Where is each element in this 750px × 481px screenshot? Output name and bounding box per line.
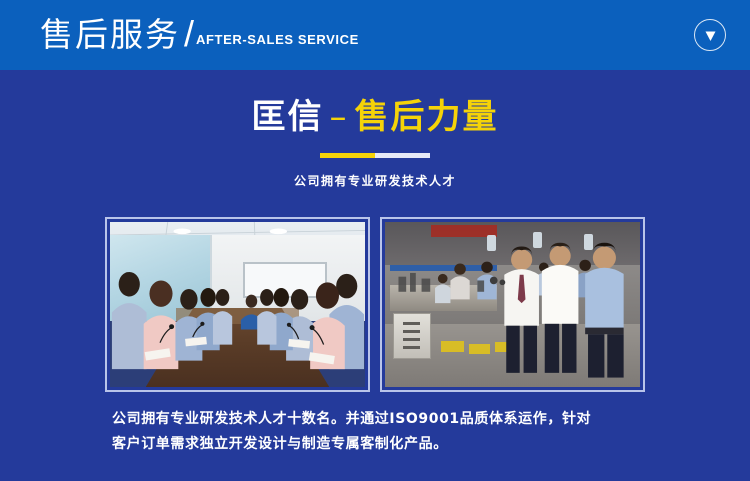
page-title: 匡信–售后力量 — [0, 95, 750, 139]
main-title-block: 匡信–售后力量 公司拥有专业研发技术人才 — [0, 95, 750, 189]
description-line-2: 客户订单需求独立开发设计与制造专属客制化产品。 — [112, 432, 642, 457]
page-title-highlight: 售后力量 — [355, 97, 499, 137]
standing-people-group — [385, 222, 640, 387]
header-chinese-title: 售后服务 — [40, 13, 180, 57]
page-subtitle: 公司拥有专业研发技术人才 — [0, 172, 750, 189]
page-header-bar: 售后服务 / AFTER-SALES SERVICE — [0, 0, 750, 70]
page-title-brand: 匡信 — [252, 97, 324, 137]
page-title-dash: – — [324, 97, 355, 137]
meeting-room-photo — [110, 222, 365, 387]
header-english-title: AFTER-SALES SERVICE — [196, 32, 359, 47]
description-paragraph: 公司拥有专业研发技术人才十数名。并通过ISO9001品质体系运作，针对 客户订单… — [112, 407, 642, 457]
factory-floor-photo — [385, 222, 640, 387]
title-divider — [320, 153, 430, 158]
title-divider-right-segment — [375, 153, 430, 158]
seated-people-group — [110, 222, 365, 387]
photo-gallery-row — [105, 217, 645, 392]
factory-floor-photo-frame[interactable] — [380, 217, 645, 392]
description-line-1: 公司拥有专业研发技术人才十数名。并通过ISO9001品质体系运作，针对 — [112, 407, 642, 432]
title-divider-left-segment — [320, 153, 375, 158]
meeting-room-photo-frame[interactable] — [105, 217, 370, 392]
after-sales-service-page: 售后服务 / AFTER-SALES SERVICE 匡信–售后力量 公司拥有专… — [0, 0, 750, 481]
circle-down-triangle-icon[interactable] — [694, 19, 726, 51]
header-title-group: 售后服务 / AFTER-SALES SERVICE — [40, 12, 359, 57]
header-slash-divider: / — [180, 12, 196, 56]
down-triangle-glyph — [704, 29, 717, 42]
